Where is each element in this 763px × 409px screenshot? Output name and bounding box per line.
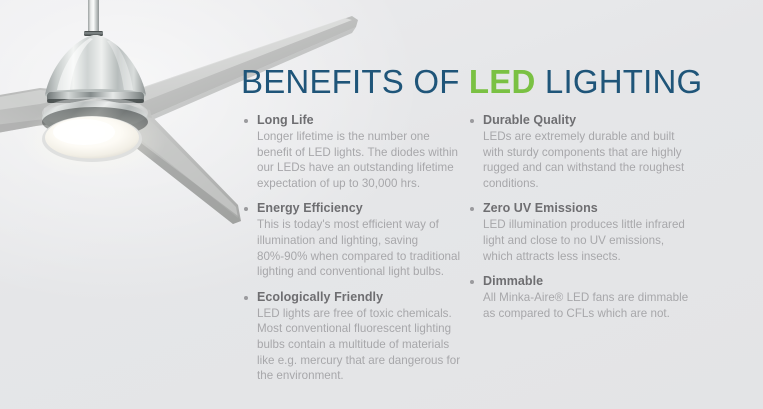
fan-led-lens	[42, 116, 142, 162]
benefit-heading: Durable Quality	[483, 113, 689, 128]
benefit-body: Longer lifetime is the number one benefi…	[257, 129, 463, 191]
benefit-heading: Dimmable	[483, 274, 689, 289]
benefit-item-durable-quality: Durable Quality LEDs are extremely durab…	[467, 113, 689, 191]
benefit-body: LED lights are free of toxic chemicals. …	[257, 306, 463, 384]
content-panel: BENEFITS OF LED LIGHTING Long Life Longe…	[241, 62, 741, 394]
title-part-two: LIGHTING	[536, 63, 703, 100]
benefits-column-right: Durable Quality LEDs are extremely durab…	[467, 113, 689, 394]
benefits-columns: Long Life Longer lifetime is the number …	[241, 113, 741, 394]
fan-downrod	[88, 0, 99, 34]
benefit-item-long-life: Long Life Longer lifetime is the number …	[241, 113, 463, 191]
bullet-icon	[244, 296, 248, 300]
benefit-item-zero-uv-emissions: Zero UV Emissions LED illumination produ…	[467, 201, 689, 264]
benefit-item-ecologically-friendly: Ecologically Friendly LED lights are fre…	[241, 290, 463, 384]
benefit-heading: Zero UV Emissions	[483, 201, 689, 216]
bullet-icon	[470, 280, 474, 284]
led-lighting-benefits-banner: BENEFITS OF LED LIGHTING Long Life Longe…	[0, 0, 763, 409]
benefit-heading: Energy Efficiency	[257, 201, 463, 216]
benefit-body: LEDs are extremely durable and built wit…	[483, 129, 689, 191]
benefit-item-energy-efficiency: Energy Efficiency This is today's most e…	[241, 201, 463, 279]
benefit-body: LED illumination produces little infrare…	[483, 217, 689, 264]
bullet-icon	[470, 119, 474, 123]
bullet-icon	[244, 119, 248, 123]
benefit-body: All Minka-Aire® LED fans are dimmable as…	[483, 290, 689, 321]
benefits-column-left: Long Life Longer lifetime is the number …	[241, 113, 463, 394]
bullet-icon	[470, 207, 474, 211]
benefit-item-dimmable: Dimmable All Minka-Aire® LED fans are di…	[467, 274, 689, 321]
benefit-body: This is today's most efficient way of il…	[257, 217, 463, 279]
title-accent-led: LED	[469, 63, 536, 100]
bullet-icon	[244, 207, 248, 211]
fan-motor-housing	[45, 35, 146, 101]
benefit-heading: Ecologically Friendly	[257, 290, 463, 305]
title-part-one: BENEFITS OF	[241, 63, 469, 100]
page-title: BENEFITS OF LED LIGHTING	[241, 62, 741, 102]
benefit-heading: Long Life	[257, 113, 463, 128]
